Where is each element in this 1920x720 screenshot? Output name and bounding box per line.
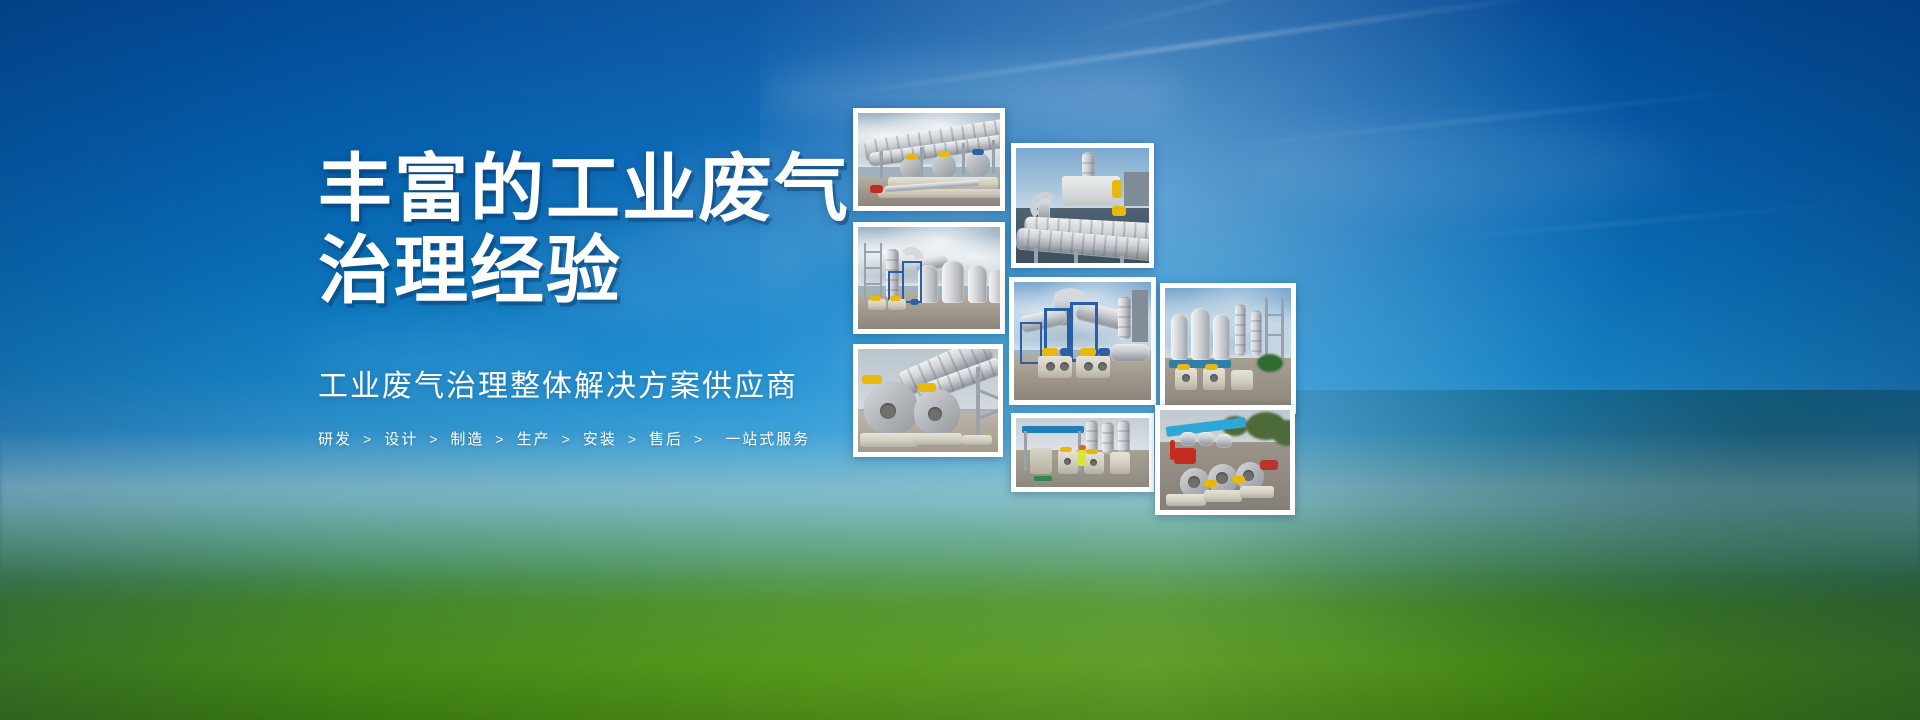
collage-photo-centrifugal-fan xyxy=(853,344,1003,457)
collage-photo-scrubber-tanks xyxy=(853,222,1005,334)
safety-helmet-icon xyxy=(1079,445,1086,450)
collage-photo-catalytic-unit xyxy=(1011,143,1154,268)
forklift-icon xyxy=(1174,448,1196,464)
hero-banner: 丰富的工业废气 治理经验 工业废气治理整体解决方案供应商 研发 > 设计 > 制… xyxy=(0,0,1920,720)
collage-photo-blue-frame-fans xyxy=(1009,277,1156,405)
collage-photo-plant-towers xyxy=(1160,283,1296,414)
collage-photo-fan-yard-forklift xyxy=(1155,405,1295,515)
collage-photo-rooftop-duct xyxy=(853,108,1005,211)
collage-photo-onsite-commissioning xyxy=(1011,413,1154,492)
worker-figure-icon xyxy=(1078,450,1086,466)
photo-collage xyxy=(0,0,1920,720)
